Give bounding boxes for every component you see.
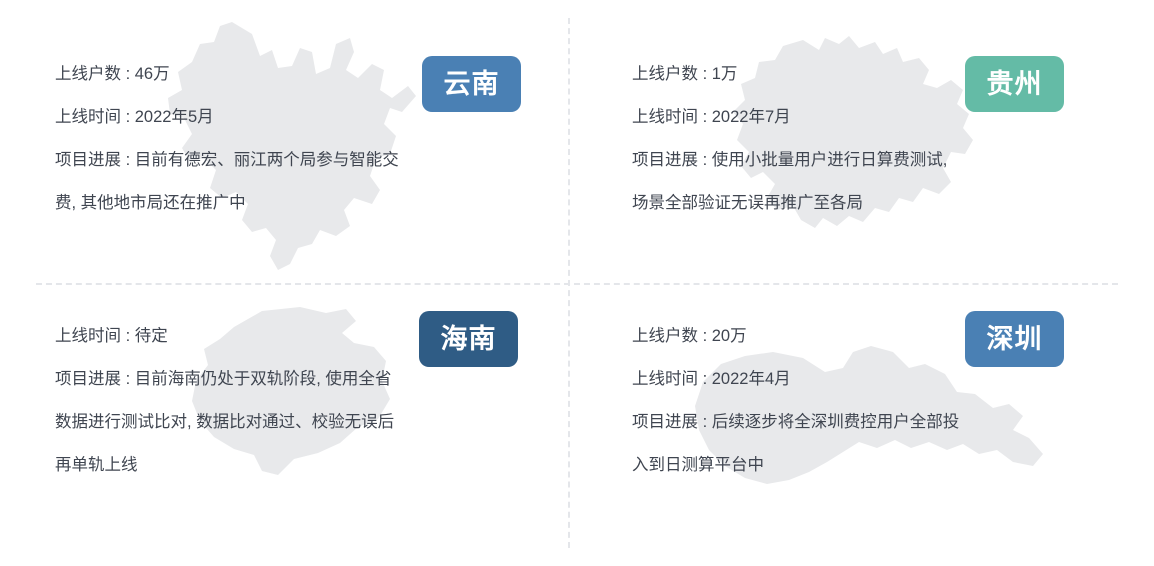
- province-badge-yunnan[interactable]: 云南: [422, 56, 521, 112]
- info-line-progress-1: 项目进展 : 后续逐步将全深圳费控用户全部投: [632, 401, 1132, 444]
- info-line-progress-3: 再单轨上线: [55, 444, 555, 487]
- province-badge-guizhou[interactable]: 贵州: [965, 56, 1064, 112]
- province-card-yunnan[interactable]: 云南 上线户数 : 46万 上线时间 : 2022年5月 项目进展 : 目前有德…: [0, 0, 577, 283]
- info-line-progress-1: 项目进展 : 使用小批量用户进行日算费测试,: [632, 139, 1132, 182]
- province-badge-label: 云南: [444, 71, 500, 98]
- province-card-shenzhen[interactable]: 深圳 上线户数 : 20万 上线时间 : 2022年4月 项目进展 : 后续逐步…: [577, 283, 1154, 566]
- info-line-progress-2: 数据进行测试比对, 数据比对通过、校验无误后: [55, 401, 555, 444]
- info-line-progress-1: 项目进展 : 目前有德宏、丽江两个局参与智能交: [55, 139, 555, 182]
- province-badge-label: 深圳: [987, 326, 1043, 353]
- province-card-hainan[interactable]: 海南 上线时间 : 待定 项目进展 : 目前海南仍处于双轨阶段, 使用全省 数据…: [0, 283, 577, 566]
- info-line-progress-2: 费, 其他地市局还在推广中: [55, 182, 555, 225]
- province-badge-hainan[interactable]: 海南: [419, 311, 518, 367]
- province-badge-label: 贵州: [987, 71, 1043, 98]
- province-badge-shenzhen[interactable]: 深圳: [965, 311, 1064, 367]
- province-card-guizhou[interactable]: 贵州 上线户数 : 1万 上线时间 : 2022年7月 项目进展 : 使用小批量…: [577, 0, 1154, 283]
- province-status-board: 云南 上线户数 : 46万 上线时间 : 2022年5月 项目进展 : 目前有德…: [0, 0, 1154, 566]
- province-badge-label: 海南: [441, 326, 497, 353]
- info-line-progress-2: 场景全部验证无误再推广至各局: [632, 182, 1132, 225]
- info-line-progress-2: 入到日测算平台中: [632, 444, 1132, 487]
